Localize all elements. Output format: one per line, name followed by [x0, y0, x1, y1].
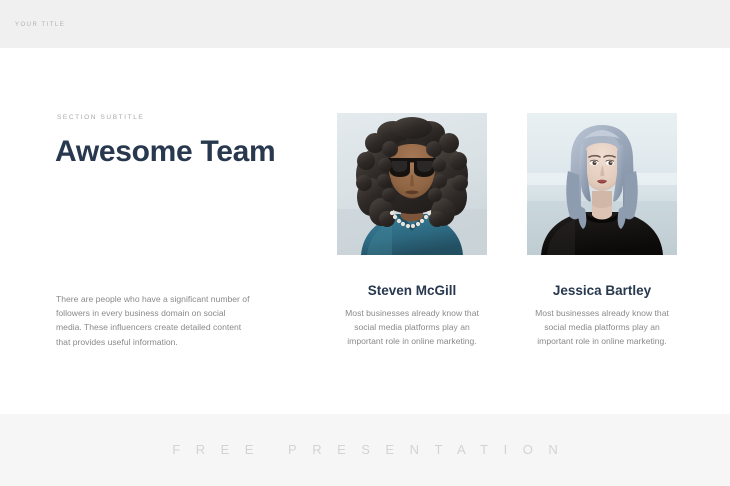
team-member-name: Steven McGill [337, 282, 487, 300]
team-member-description: Most businesses already know that social… [527, 306, 677, 349]
page-title: Awesome Team [55, 134, 275, 170]
section-subtitle: SECTION SUBTITLE [57, 113, 144, 122]
header-title: YOUR TITLE [15, 21, 65, 29]
team-member-card: Jessica Bartley Most businesses already … [527, 113, 677, 349]
intro-paragraph: There are people who have a significant … [56, 292, 252, 349]
team-member-description: Most businesses already know that social… [337, 306, 487, 349]
portrait-man-image [337, 113, 487, 255]
team-member-card: Steven McGill Most businesses already kn… [337, 113, 487, 349]
team-member-photo [527, 113, 677, 255]
portrait-woman-image [527, 113, 677, 255]
header-band [0, 0, 730, 48]
team-member-name: Jessica Bartley [527, 282, 677, 300]
presentation-slide: YOUR TITLE SECTION SUBTITLE Awesome Team… [0, 0, 730, 486]
team-member-photo [337, 113, 487, 255]
footer-text: FREE PRESENTATION [0, 442, 730, 458]
